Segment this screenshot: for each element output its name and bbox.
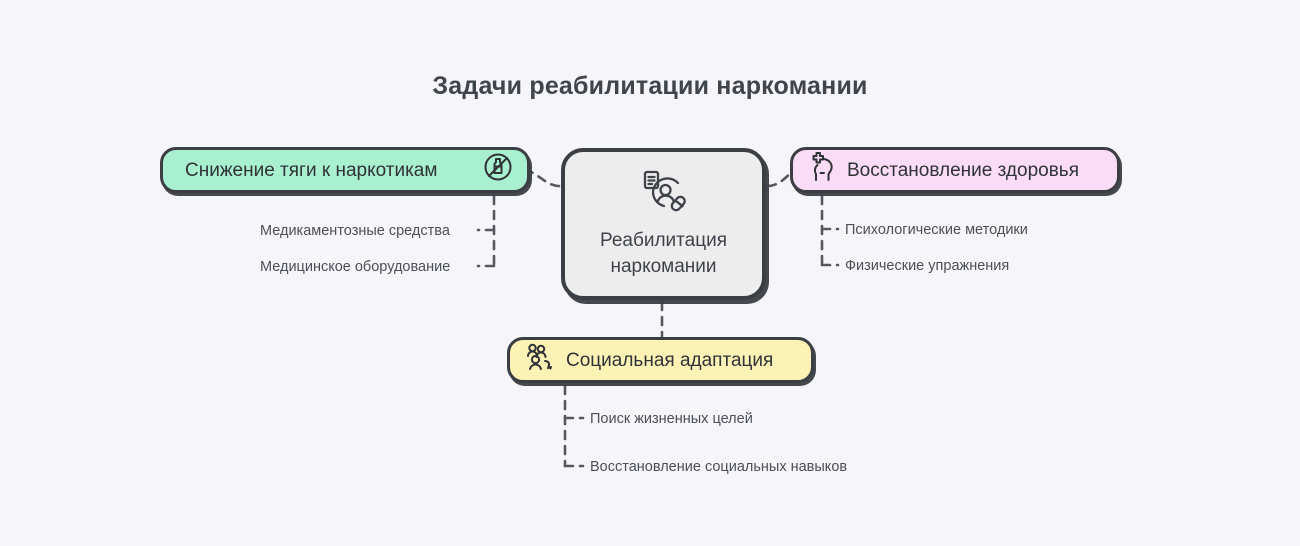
people-group-icon: [524, 341, 556, 379]
mindmap-canvas: Задачи реабилитации наркомании Р: [0, 0, 1300, 546]
branch-node-left[interactable]: Снижение тяги к наркотикам: [160, 147, 530, 193]
branch-node-right-label: Восстановление здоровья: [847, 161, 1079, 180]
branch-node-bottom[interactable]: Социальная адаптация: [507, 337, 814, 383]
page-title: Задачи реабилитации наркомании: [0, 72, 1300, 101]
edge-center-left: [531, 172, 559, 186]
leaf-label-bottom-2: Восстановление социальных навыков: [590, 460, 847, 475]
branch-node-right[interactable]: Восстановление здоровья: [790, 147, 1120, 193]
center-node-line2: наркомании: [610, 256, 716, 277]
center-node-line1: Реабилитация: [600, 230, 727, 251]
leaf-label-bottom-1: Поиск жизненных целей: [590, 412, 753, 427]
no-drugs-icon: [483, 152, 513, 188]
person-document-pill-icon: [638, 169, 690, 218]
center-node[interactable]: Реабилитация наркомании: [561, 148, 766, 300]
branch-node-bottom-label: Социальная адаптация: [566, 351, 773, 370]
branch-node-left-label: Снижение тяги к наркотикам: [185, 161, 437, 180]
head-medical-cross-icon: [807, 151, 837, 189]
leaf-label-right-2: Физические упражнения: [845, 259, 1009, 274]
leaf-label-left-1: Медикаментозные средства: [260, 224, 450, 239]
center-node-text: Реабилитация наркомании: [600, 228, 727, 279]
edge-center-right: [768, 172, 792, 186]
leaf-label-right-1: Психологические методики: [845, 223, 1028, 238]
leaf-label-left-2: Медицинское оборудование: [260, 260, 450, 275]
